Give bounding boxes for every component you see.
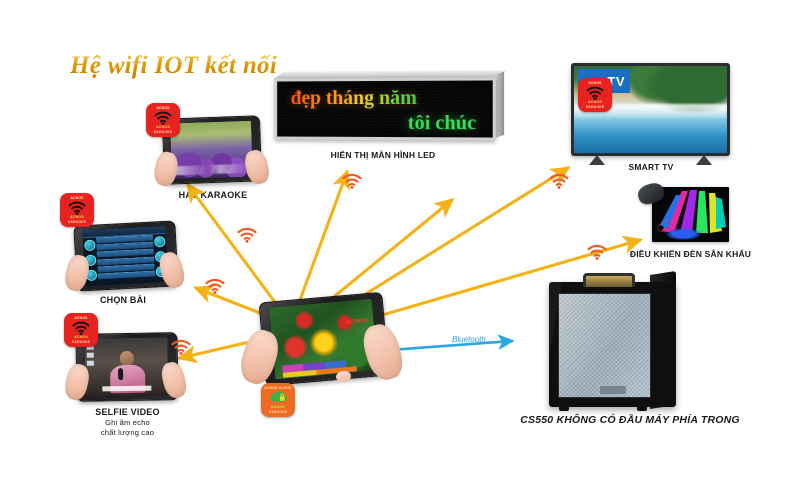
led-text-line1: đẹp tháng năm	[291, 87, 417, 110]
app-icon-mid-text: ACNOS	[60, 215, 94, 219]
diagram-canvas: Hệ wifi IOT kết nối Bluetooth	[0, 0, 800, 500]
led-face: đẹp tháng năm tôi chúc	[274, 77, 496, 140]
karaoke-score-text: ACNOS	[346, 318, 368, 326]
bluetooth-label: Bluetooth	[452, 335, 486, 344]
wifi-icon	[586, 243, 608, 265]
app-icon-chon-bai[interactable]: ACNOS ACNOS KARAOKE	[60, 193, 94, 227]
cloud-lock-icon	[261, 390, 295, 404]
microphone	[118, 368, 123, 380]
song-list-ui	[83, 226, 169, 286]
speaker-handle	[583, 273, 635, 287]
tablet-screen	[170, 121, 253, 180]
karaoke-lavender-scene	[170, 121, 253, 180]
singer-head	[120, 351, 134, 366]
led-side-edge	[495, 72, 504, 139]
app-icon-selfie-video[interactable]: ACNOS ACNOS KARAOKE	[64, 313, 98, 347]
app-icon-mid-text: ACNOS	[261, 405, 295, 409]
wifi-icon	[146, 110, 180, 124]
speaker-foot-left	[559, 406, 569, 411]
selfie-side-buttons[interactable]	[87, 344, 94, 368]
led-display: đẹp tháng năm tôi chúc	[274, 77, 496, 140]
app-icon-hat-karaoke[interactable]: ACNOS ACNOS KARAOKE	[146, 103, 180, 137]
control-knob[interactable]	[84, 239, 96, 251]
speaker-foot-right	[637, 406, 647, 411]
subtitle-bar	[102, 385, 152, 392]
wifi-icon	[341, 172, 363, 194]
app-icon-bottom-text: KARAOKE	[261, 410, 295, 414]
app-icon-mid-text: ACNOS	[578, 100, 612, 104]
app-icon-bottom-text: KARAOKE	[60, 220, 94, 224]
tablet-screen	[83, 226, 169, 286]
app-icon-bottom-text: KARAOKE	[64, 340, 98, 344]
control-knob[interactable]	[154, 236, 166, 248]
app-icon-cloud-karaoke[interactable]: ACNOS CLOUD ACNOS KARAOKE	[261, 383, 295, 417]
speaker-badge	[600, 386, 626, 394]
song-row[interactable]	[98, 271, 155, 280]
wifi-icon	[548, 172, 570, 194]
wifi-icon	[236, 226, 258, 248]
led-text-line2: tôi chúc	[408, 112, 476, 135]
speaker-grille	[558, 293, 651, 398]
speaker-cabinet	[549, 282, 676, 407]
app-icon-bottom-text: KARAOKE	[146, 130, 180, 134]
app-icon-bottom-text: KARAOKE	[578, 105, 612, 109]
selfie-video-scene	[85, 337, 169, 396]
speaker-cs550	[549, 282, 676, 407]
wifi-icon	[64, 320, 98, 334]
tablet-screen	[85, 337, 169, 396]
wifi-icon	[170, 338, 192, 360]
wifi-icon	[60, 200, 94, 214]
song-list-rows[interactable]	[96, 234, 155, 282]
karaoke-flower-scene: ACNOS	[269, 299, 378, 380]
wifi-icon	[578, 85, 612, 99]
app-icon-mid-text: ACNOS	[64, 335, 98, 339]
app-icon-smart-tv[interactable]: ACNOS ACNOS KARAOKE	[578, 78, 612, 112]
tablet-screen: ACNOS	[269, 299, 378, 380]
wifi-icon	[204, 277, 226, 299]
app-icon-mid-text: ACNOS	[146, 125, 180, 129]
stage-light-device	[652, 187, 729, 242]
